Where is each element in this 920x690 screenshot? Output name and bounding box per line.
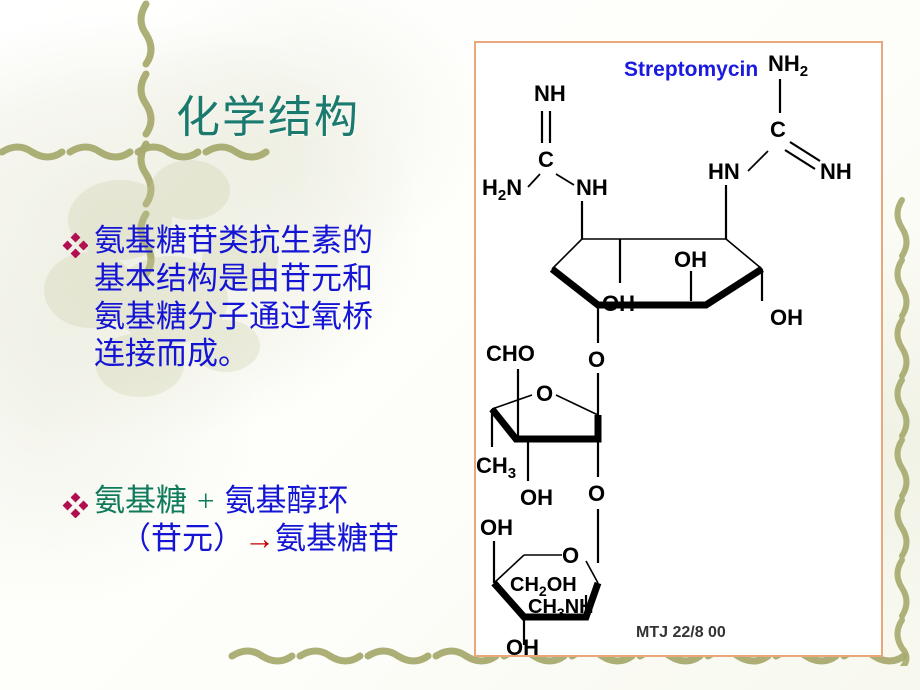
operator-plus: +: [197, 483, 214, 518]
label-streptidine-oh-1: OH: [602, 291, 635, 316]
structure-caption: MTJ 22/8 00: [636, 624, 726, 641]
label-guanidine-left-h2n: H2N: [482, 175, 522, 204]
diamond-cluster-bullet-icon: [62, 492, 88, 518]
equation-line-reactants: 氨基糖+氨基醇环: [94, 482, 399, 520]
list-item-line: 连接而成。: [94, 335, 454, 373]
diamond-cluster-bullet-icon: [62, 232, 88, 258]
term-aglycone: （苷元）: [120, 521, 244, 556]
label-streptose-ring-oxygen: O: [536, 381, 553, 406]
label-guanidine-right-nh: NH: [820, 159, 852, 184]
label-guanidine-right-c: C: [770, 117, 786, 142]
label-streptidine-oh-2: OH: [674, 247, 707, 272]
label-glycosidic-oxygen-2: O: [588, 481, 605, 506]
compound-name-label: Streptomycin: [624, 58, 758, 81]
label-guanidine-right-hn: HN: [708, 159, 740, 184]
term-aminocyclitol: 氨基醇环: [224, 483, 348, 518]
label-guanidine-left-nh: NH: [534, 81, 566, 106]
list-item-line: 基本结构是由苷元和: [94, 260, 454, 298]
streptomycin-structure-diagram: Streptomycin NH C H2N NH NH2 C NH HN: [476, 43, 881, 655]
label-glucosamine-ring-oxygen: O: [562, 543, 579, 568]
list-item-line: 氨基糖分子通过氧桥: [94, 298, 454, 336]
slide-canvas: 化学结构 氨基糖苷类抗生素的 基本结构是由苷元和 氨基糖分子通过氧桥 连接而成。: [0, 0, 920, 690]
page-title: 化学结构: [176, 96, 360, 140]
label-glycosidic-oxygen-1: O: [588, 347, 605, 372]
label-streptidine-oh-3: OH: [770, 305, 803, 330]
list-item-text: 氨基糖苷类抗生素的 基本结构是由苷元和 氨基糖分子通过氧桥 连接而成。: [94, 222, 454, 373]
list-item: 氨基糖苷类抗生素的 基本结构是由苷元和 氨基糖分子通过氧桥 连接而成。: [62, 222, 462, 373]
arrow-icon: →: [244, 521, 275, 556]
label-glucosamine-ch3nh: CH3NH: [528, 596, 594, 621]
equation-line-product: （苷元）→氨基糖苷: [94, 520, 399, 558]
term-aminosugar: 氨基糖: [94, 483, 187, 518]
label-guanidine-left-nh-link: NH: [576, 175, 608, 200]
label-streptose-ch3: CH3: [476, 453, 516, 482]
decorative-squiggle-vertical-right: [887, 196, 917, 666]
label-streptose-cho: CHO: [486, 341, 535, 366]
term-product: 氨基糖苷: [275, 521, 399, 556]
label-glucosamine-oh-bottom: OH: [506, 635, 539, 655]
label-glucosamine-oh-top: OH: [480, 515, 513, 540]
label-guanidine-left-c: C: [538, 147, 554, 172]
streptomycin-structure-image: Streptomycin NH C H2N NH NH2 C NH HN: [474, 41, 883, 657]
list-item-line: 氨基糖苷类抗生素的: [94, 222, 454, 260]
list-item-text: 氨基糖+氨基醇环 （苷元）→氨基糖苷: [94, 482, 399, 558]
list-item: 氨基糖+氨基醇环 （苷元）→氨基糖苷: [62, 482, 472, 558]
label-guanidine-right-nh2: NH2: [768, 51, 808, 80]
label-streptose-oh: OH: [520, 485, 553, 510]
